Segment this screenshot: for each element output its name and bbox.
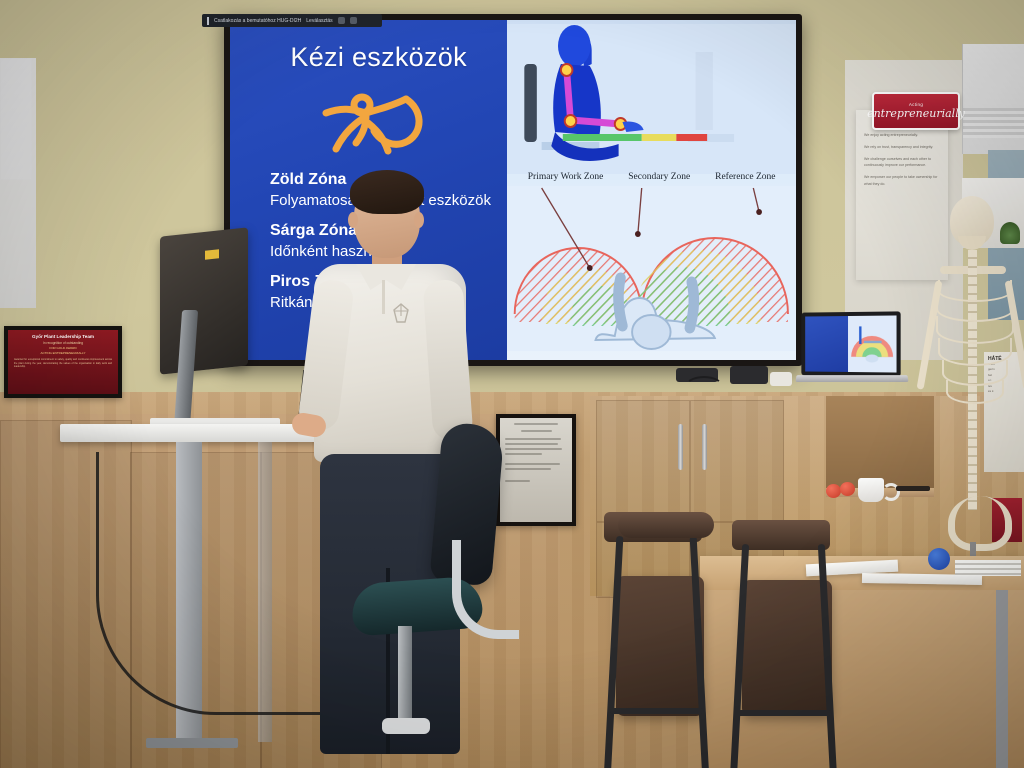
presenter-ear-left: [348, 212, 358, 228]
power-cable: [96, 452, 329, 715]
values-line-3: We challenge ourselves and each other to…: [864, 156, 940, 170]
screenshot-root: Kézi eszközök Zöld Zón: [0, 0, 1024, 768]
values-line-4: We empower our people to take ownership …: [864, 174, 940, 188]
wall-panel-left: [0, 58, 36, 308]
plaque-award: FOR GOLD AWARD: [14, 346, 112, 350]
label-primary-work-zone: Primary Work Zone: [528, 172, 604, 182]
presenter-ear-right: [414, 212, 424, 228]
pin-icon[interactable]: [350, 17, 357, 24]
air-conditioner: [962, 44, 1024, 154]
reach-zone-diagram: [507, 186, 796, 351]
apple-2: [840, 482, 855, 496]
cabinet-handle-1[interactable]: [678, 424, 683, 470]
plaque-body: Awarded for exceptional commitment to sa…: [14, 358, 112, 369]
stool-extra[interactable]: [618, 512, 714, 538]
framed-certificate: [496, 414, 576, 526]
values-line-1: We enjoy acting entrepreneurially.: [864, 132, 940, 139]
leadership-plaque: Győr Plant Leadership Team In recognitio…: [4, 326, 122, 398]
skeleton-rib-6: [946, 380, 1004, 404]
monitor-sticker: [205, 249, 219, 259]
blue-exercise-ball[interactable]: [928, 548, 950, 570]
certificate-inner: [500, 418, 572, 522]
chair-2-crossbar: [736, 710, 832, 716]
zone-label-row: Primary Work Zone Secondary Zone Referen…: [507, 172, 796, 182]
cabinet-nook: [826, 396, 934, 490]
laptop-slide-left: [805, 316, 848, 372]
chair-2-back: [742, 580, 832, 716]
presenter-placket: [382, 280, 385, 314]
chair-1-crossbar: [610, 708, 704, 714]
presenter-hair: [350, 170, 424, 214]
saddle-stool-post: [398, 626, 412, 722]
av-device-2: [730, 366, 768, 384]
monitor-rear: [160, 227, 248, 374]
values-line-2: We rely on trust, transparency and integ…: [864, 144, 940, 151]
skeleton-jaw: [958, 236, 986, 250]
label-secondary-zone: Secondary Zone: [628, 172, 690, 182]
toolbar-accent: [207, 17, 209, 25]
laptop-screen: [805, 315, 896, 372]
book-stack: [955, 560, 1021, 576]
remote-control[interactable]: [896, 486, 930, 491]
plaque-footer: ACTING ENTREPRENEURIALLY: [14, 351, 112, 355]
plaque-inner: Győr Plant Leadership Team In recognitio…: [8, 330, 118, 394]
desk-foot-left: [146, 738, 238, 748]
cabinet-door-1[interactable]: [596, 400, 690, 522]
presentation-title: Csatlakozás a bemutatóhoz HUG-DI2H: [214, 18, 301, 24]
slide-title: Kézi eszközök: [250, 42, 507, 73]
coffee-mug[interactable]: [858, 478, 884, 502]
seated-worker-diagram: [507, 24, 796, 174]
laptop-slide-right: [848, 315, 896, 372]
plaque-subtitle: In recognition of outstanding: [14, 341, 112, 345]
laptop-base: [795, 375, 908, 382]
table-leg-right: [996, 590, 1008, 768]
meeting-chair-1[interactable]: [596, 512, 706, 768]
laptop-lid: [801, 311, 900, 376]
skeleton-pelvis: [948, 496, 1012, 551]
plaque-title: Győr Plant Leadership Team: [14, 334, 112, 339]
chair-1-back: [616, 576, 704, 716]
meeting-chair-2[interactable]: [724, 520, 834, 768]
skeleton-model: [922, 196, 1024, 596]
av-device-3: [770, 372, 792, 386]
slide-right-panel: Primary Work Zone Secondary Zone Referen…: [507, 20, 796, 360]
label-reference-zone: Reference Zone: [715, 172, 775, 182]
gear-icon[interactable]: [338, 17, 345, 24]
saddle-stool-foot: [382, 718, 430, 734]
cabinet-handle-2[interactable]: [702, 424, 707, 470]
company-emblem-icon: [388, 302, 414, 326]
apple-1: [826, 484, 841, 498]
values-badge: Acting entrepreneurially: [872, 92, 960, 130]
presentation-toolbar[interactable]: Csatlakozás a bemutatóhoz HUG-DI2H Levál…: [202, 14, 382, 27]
values-badge-main: entrepreneurially: [867, 107, 965, 120]
laptop-diagram-icon: [848, 315, 896, 372]
archer-figure-logo: [322, 79, 442, 159]
disconnect-button[interactable]: Leválasztás: [306, 18, 332, 24]
presenter-laptop[interactable]: [800, 312, 908, 390]
